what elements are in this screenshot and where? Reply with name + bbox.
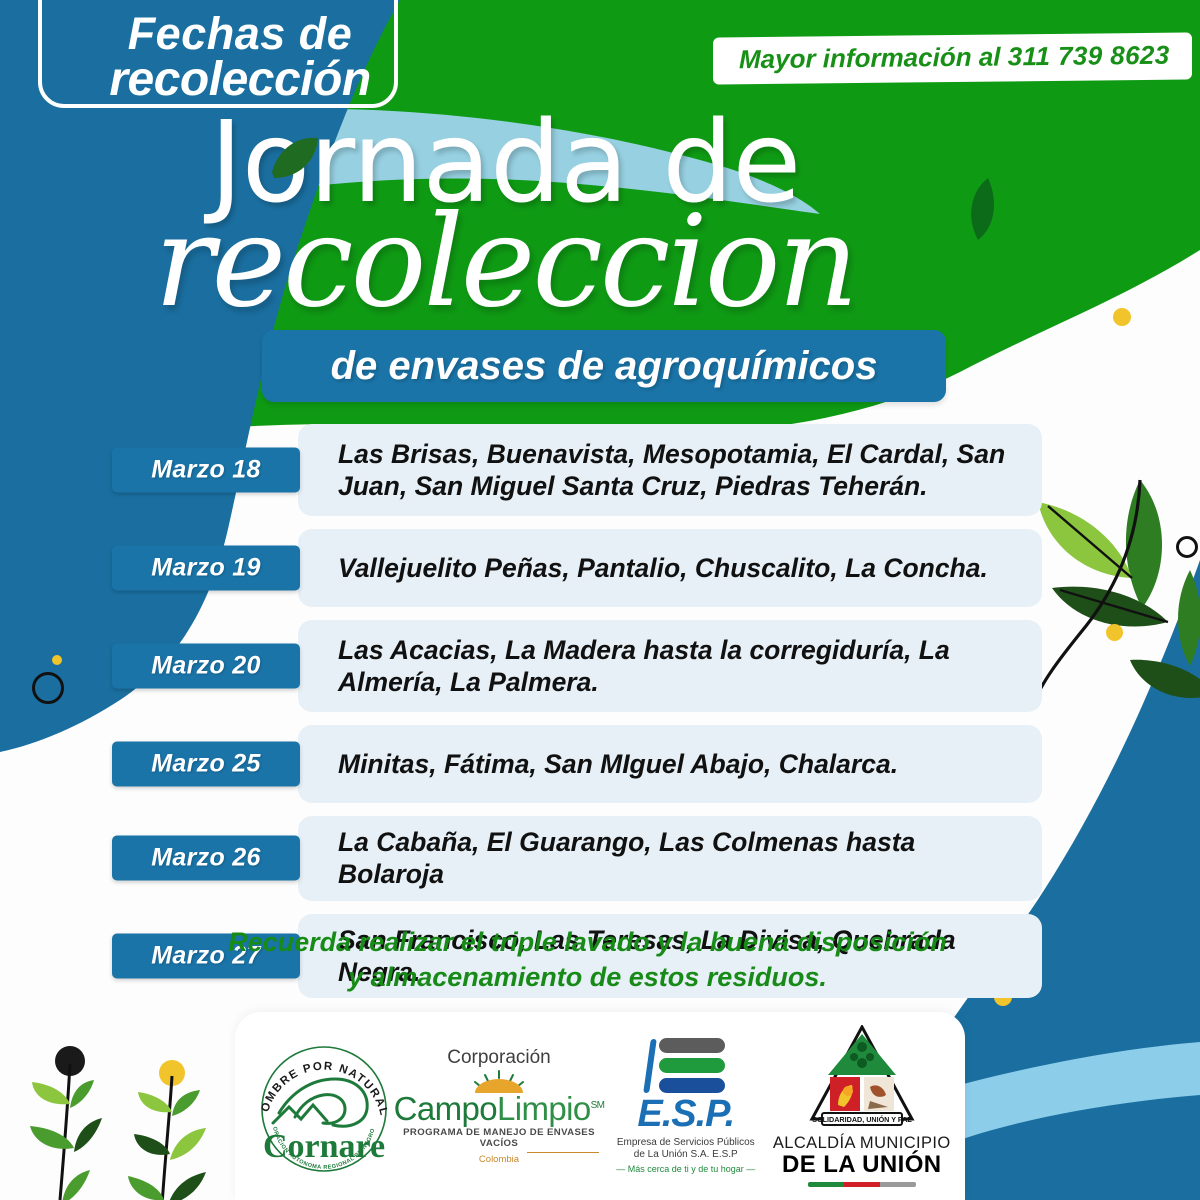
locations-text: La Cabaña, El Guarango, Las Colmenas has… bbox=[338, 826, 1012, 891]
campolimpio-pais: Colombia bbox=[479, 1154, 519, 1165]
esp-pill-green bbox=[659, 1058, 725, 1073]
date-label: Marzo 20 bbox=[151, 652, 260, 681]
campolimpio-name-b: Limpio bbox=[497, 1090, 591, 1127]
date-label: Marzo 25 bbox=[151, 750, 260, 779]
locations-text: Las Brisas, Buenavista, Mesopotamia, El … bbox=[338, 438, 1012, 503]
crest-icon: SOLIDARIDAD, UNIÓN Y PAZ bbox=[808, 1025, 916, 1131]
campolimpio-programa: PROGRAMA DE MANEJO DE ENVASES VACÍOS bbox=[399, 1127, 599, 1149]
crest-motto: SOLIDARIDAD, UNIÓN Y PAZ bbox=[812, 1115, 912, 1124]
page-subtitle-text: de envases de agroquímicos bbox=[331, 344, 878, 389]
table-row: Marzo 18 Las Brisas, Buenavista, Mesopot… bbox=[112, 424, 1042, 516]
date-badge[interactable]: Marzo 19 bbox=[112, 546, 300, 591]
locations-box: Minitas, Fátima, San MIguel Abajo, Chala… bbox=[298, 725, 1042, 803]
decor-yellow-dot-3 bbox=[52, 655, 62, 665]
svg-text:EL HOMBRE POR NATURALEZA: EL HOMBRE POR NATURALEZA bbox=[249, 1031, 390, 1118]
decor-circle-outline bbox=[1176, 536, 1198, 558]
contact-phone-pill[interactable]: Mayor información al 311 739 8623 bbox=[713, 32, 1192, 84]
campolimpio-divider bbox=[527, 1152, 599, 1153]
alcaldia-line2: DE LA UNIÓN bbox=[782, 1153, 942, 1177]
logo-alcaldia: SOLIDARIDAD, UNIÓN Y PAZ ALCALDÍA MUNICI… bbox=[773, 1012, 951, 1200]
table-row: Marzo 19 Vallejuelito Peñas, Pantalio, C… bbox=[112, 529, 1042, 607]
esp-subtitle: Empresa de Servicios Públicos de La Unió… bbox=[617, 1137, 755, 1161]
table-row: Marzo 26 La Cabaña, El Guarango, Las Col… bbox=[112, 816, 1042, 901]
logo-esp: E.S.P. Empresa de Servicios Públicos de … bbox=[599, 1012, 773, 1200]
table-row: Marzo 25 Minitas, Fátima, San MIguel Aba… bbox=[112, 725, 1042, 803]
esp-mark bbox=[647, 1038, 725, 1093]
page-subtitle-bar: de envases de agroquímicos bbox=[262, 330, 946, 402]
schedule-list: Marzo 18 Las Brisas, Buenavista, Mesopot… bbox=[112, 424, 1042, 1011]
esp-pill-gray bbox=[659, 1038, 725, 1053]
alcaldia-divider bbox=[808, 1182, 916, 1187]
campolimpio-corporacion: Corporación bbox=[447, 1047, 551, 1069]
reminder-line2: y almacenamiento de estos residuos. bbox=[0, 960, 1175, 995]
cornare-wordmark: Cornare bbox=[263, 1128, 385, 1165]
decor-yellow-dot-2 bbox=[1106, 624, 1123, 641]
cornare-arc-text: EL HOMBRE POR NATURALEZA bbox=[249, 1031, 390, 1118]
decor-circle-outline-2 bbox=[32, 672, 64, 704]
esp-pill-blue bbox=[659, 1078, 725, 1093]
date-badge[interactable]: Marzo 26 bbox=[112, 836, 300, 881]
reminder-line1: Recuerda realizar el triple lavado y la … bbox=[0, 925, 1175, 960]
date-label: Marzo 18 bbox=[151, 456, 260, 485]
esp-tagline: — Más cerca de ti y de tu hogar — bbox=[616, 1164, 755, 1174]
title-leaf-icon-2 bbox=[938, 168, 1008, 248]
esp-letters: E.S.P. bbox=[637, 1095, 734, 1133]
locations-box: Vallejuelito Peñas, Pantalio, Chuscalito… bbox=[298, 529, 1042, 607]
esp-bar-icon bbox=[643, 1039, 657, 1093]
locations-text: Minitas, Fátima, San MIguel Abajo, Chala… bbox=[338, 748, 898, 780]
locations-box: Las Brisas, Buenavista, Mesopotamia, El … bbox=[298, 424, 1042, 516]
esp-subtitle-line2: de La Unión S.A. E.S.P bbox=[617, 1149, 755, 1161]
date-badge[interactable]: Marzo 20 bbox=[112, 644, 300, 689]
contact-phone-number: 311 739 8623 bbox=[1008, 40, 1170, 72]
poster-canvas: Fechas de recolección Mayor información … bbox=[0, 0, 1200, 1200]
campolimpio-name-a: Campo bbox=[394, 1090, 497, 1127]
esp-pill-stack bbox=[659, 1038, 725, 1093]
reminder-note: Recuerda realizar el triple lavado y la … bbox=[0, 925, 1175, 994]
fechas-badge-text: Fechas de recolección bbox=[70, 12, 410, 103]
fechas-badge-line1: Fechas de bbox=[70, 12, 410, 56]
footer-logo-card: EL HOMBRE POR NATURALEZA CORPORACION AUT… bbox=[235, 1012, 965, 1200]
locations-box: Las Acacias, La Madera hasta la corregid… bbox=[298, 620, 1042, 712]
date-label: Marzo 26 bbox=[151, 844, 260, 873]
locations-box: La Cabaña, El Guarango, Las Colmenas has… bbox=[298, 816, 1042, 901]
contact-phone-prefix: Mayor información al bbox=[739, 41, 1008, 74]
fechas-badge-line2: recolección bbox=[70, 56, 410, 103]
date-badge[interactable]: Marzo 18 bbox=[112, 448, 300, 493]
logo-cornare: EL HOMBRE POR NATURALEZA CORPORACION AUT… bbox=[249, 1012, 399, 1200]
date-badge[interactable]: Marzo 25 bbox=[112, 742, 300, 787]
locations-text: Las Acacias, La Madera hasta la corregid… bbox=[338, 634, 1012, 699]
date-label: Marzo 19 bbox=[151, 554, 260, 583]
campolimpio-wordmark: CampoLimpioSM bbox=[394, 1092, 605, 1125]
locations-text: Vallejuelito Peñas, Pantalio, Chuscalito… bbox=[338, 552, 988, 584]
table-row: Marzo 20 Las Acacias, La Madera hasta la… bbox=[112, 620, 1042, 712]
esp-subtitle-line1: Empresa de Servicios Públicos bbox=[617, 1137, 755, 1149]
title-leaf-icon bbox=[262, 128, 332, 198]
plant-sprigs-icon bbox=[10, 1030, 240, 1200]
decor-yellow-dot bbox=[1113, 308, 1131, 326]
logo-campolimpio: Corporación CampoLimpioSM PROGRAMA DE MA… bbox=[399, 1012, 599, 1200]
